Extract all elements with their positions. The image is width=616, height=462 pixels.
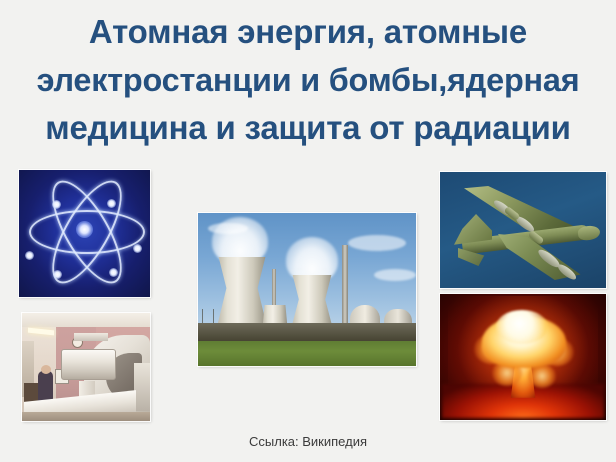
image-strategic-bomber (440, 172, 606, 288)
title-line-1: Атомная энергия, атомные (0, 8, 616, 56)
green-field (198, 341, 416, 366)
cloud (348, 235, 406, 251)
image-nuclear-explosion (440, 294, 606, 420)
chimney-stack (342, 245, 348, 333)
plant-buildings (198, 323, 416, 341)
source-caption: Ссылка: Википедия (0, 434, 616, 449)
title-line-3: медицина и защита от радиации (0, 104, 616, 152)
image-atom-diagram (19, 170, 150, 297)
image-nuclear-medicine-scanner (22, 313, 150, 421)
cloud (374, 269, 416, 281)
atom-electron (53, 270, 62, 279)
room-floor (22, 412, 150, 421)
mushroom-cloud-cap-core (496, 310, 548, 344)
title-line-2: электростанции и бомбы,ядерная (0, 56, 616, 104)
aircraft-nose (577, 225, 601, 242)
atom-electron (109, 268, 118, 277)
atom-electron (25, 251, 34, 260)
atom-electron (52, 200, 61, 209)
technician-body (38, 371, 53, 401)
slide-canvas: Атомная энергия, атомные электростанции … (0, 0, 616, 462)
scanner-detector-arm (74, 333, 108, 341)
page-title: Атомная энергия, атомные электростанции … (0, 8, 616, 152)
atom-electron (133, 244, 142, 253)
image-nuclear-power-plant (198, 213, 416, 366)
technician-head (41, 365, 51, 374)
room-ceiling (22, 313, 150, 327)
atom-electron (107, 199, 116, 208)
equipment-cabinet (134, 363, 150, 411)
scanner-detector-head (61, 349, 116, 380)
